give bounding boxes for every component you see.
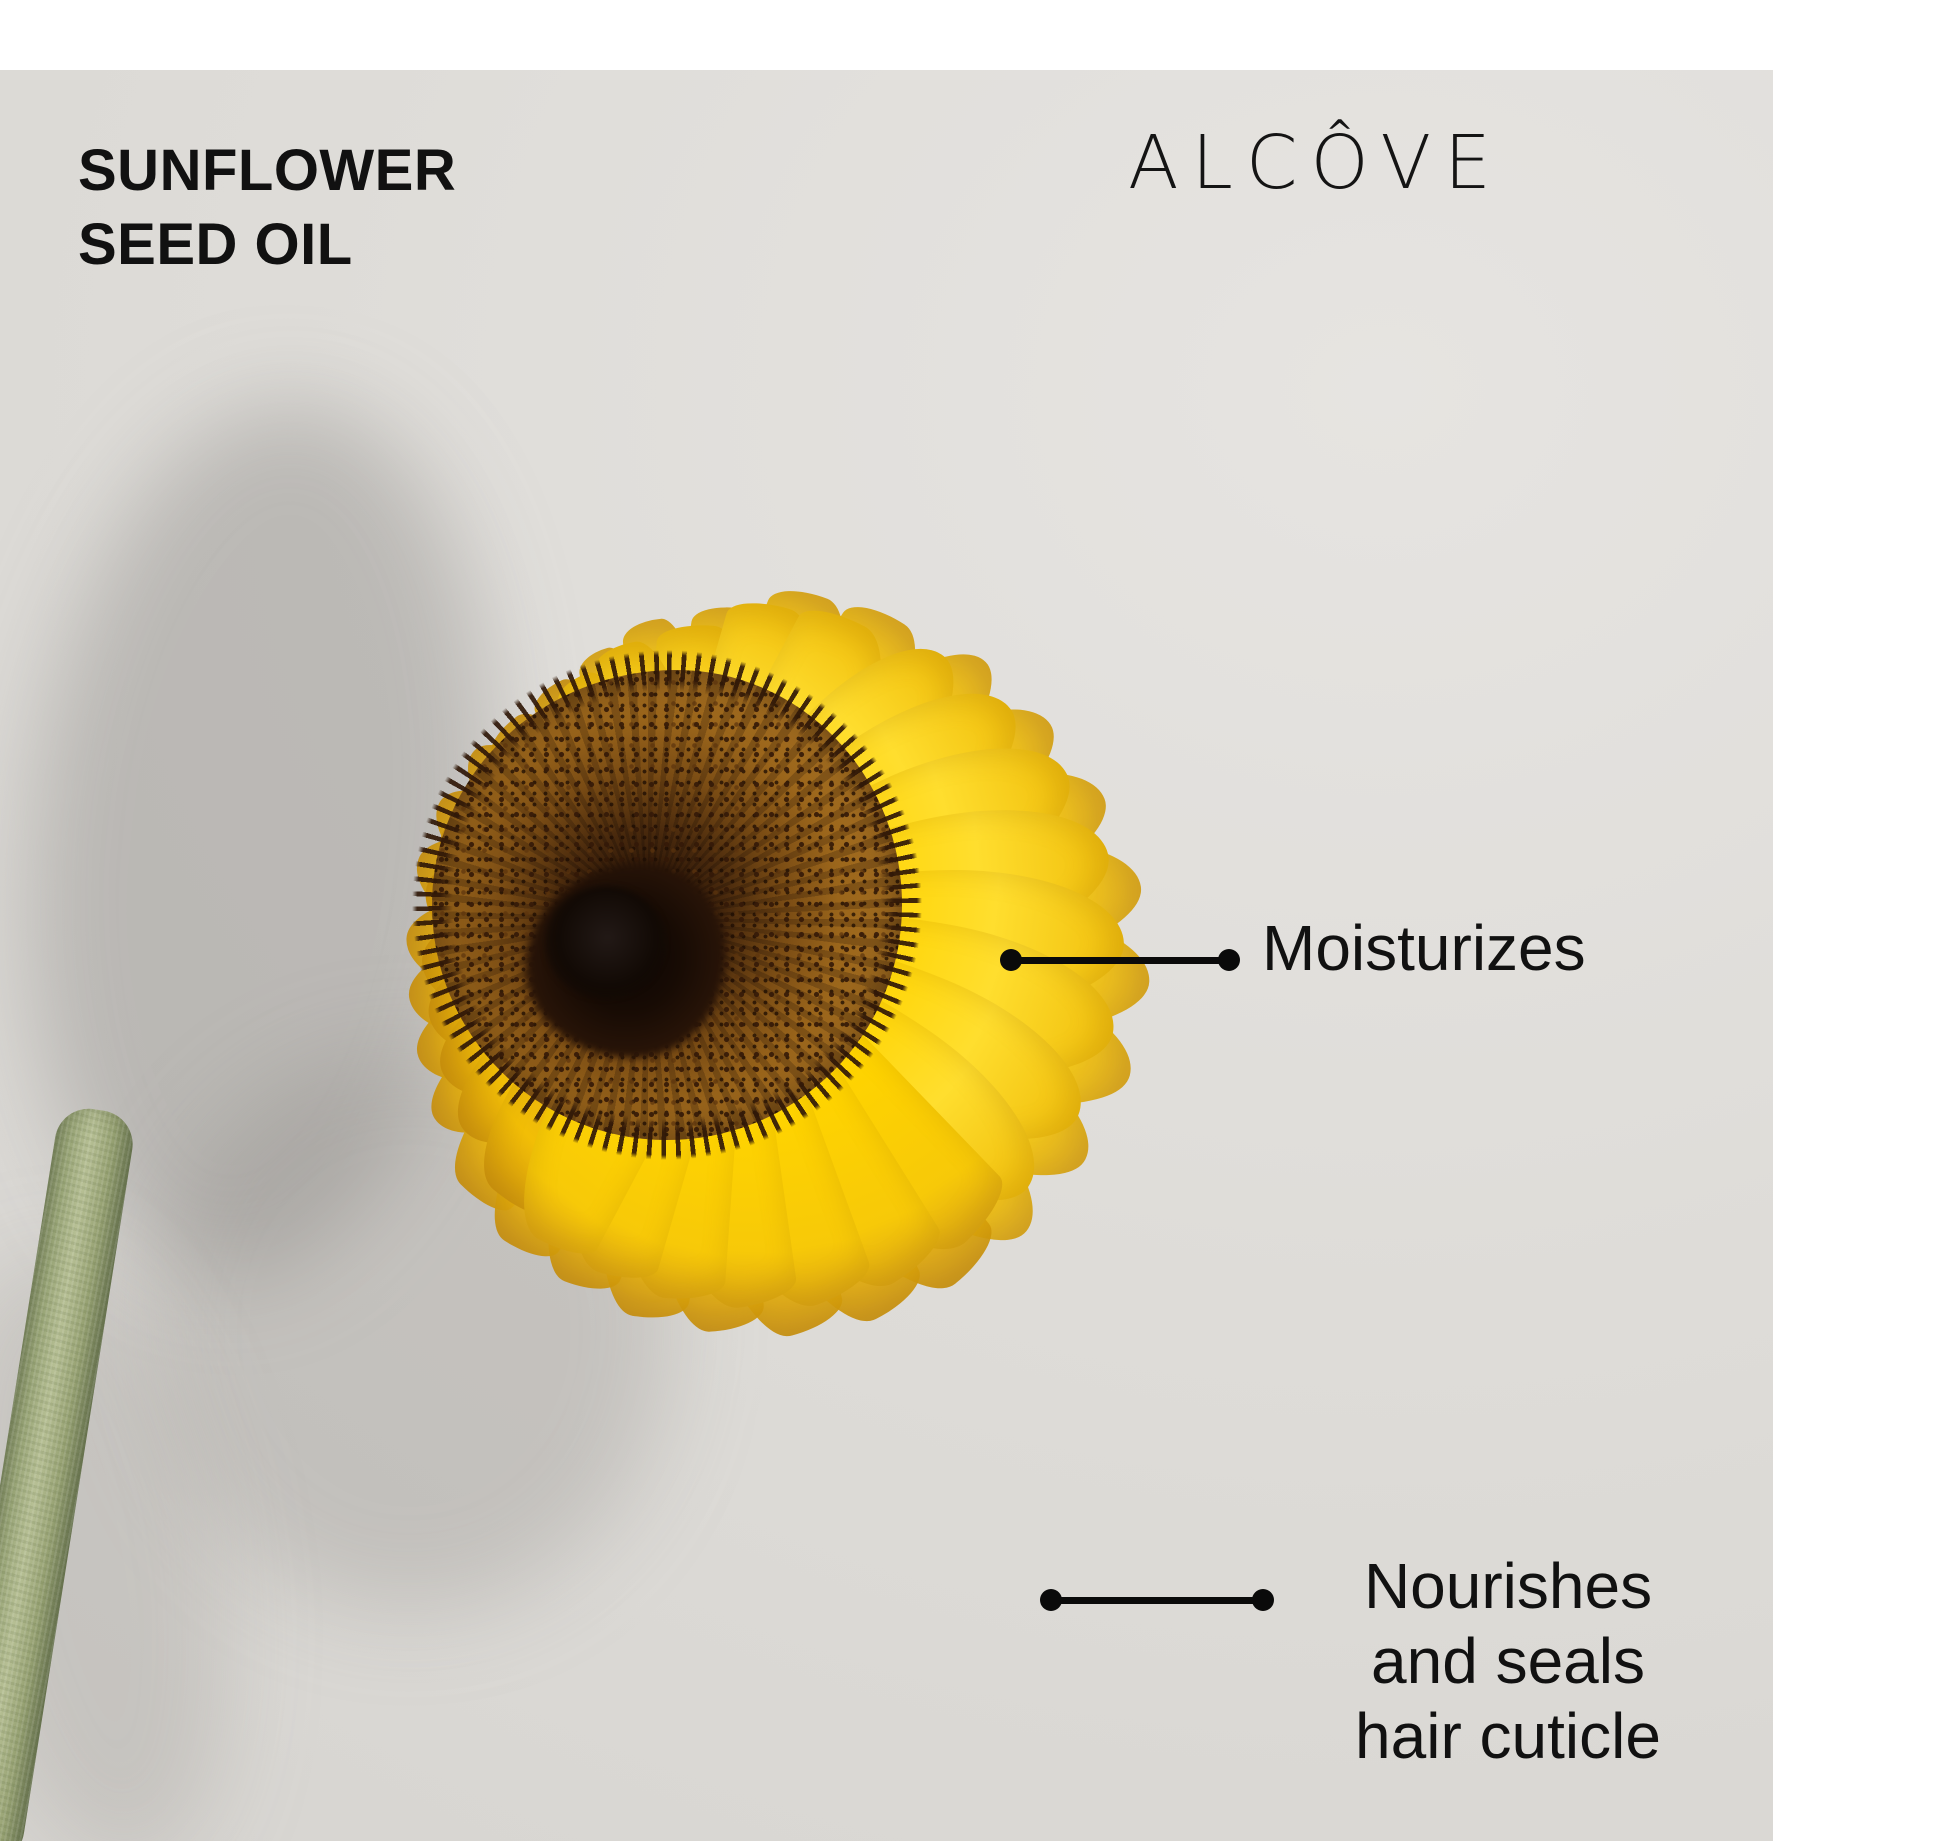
leader-bar (1010, 957, 1230, 964)
leader-dot-end-icon (1252, 1589, 1274, 1611)
leader-dot-end-icon (1218, 949, 1240, 971)
callout-label-nourishes: Nourishes and seals hair cuticle (1298, 1549, 1718, 1774)
page-title: SUNFLOWER SEED OIL (78, 134, 456, 282)
leader-bar (1050, 1597, 1264, 1604)
sunflower-disc (432, 670, 902, 1140)
sunflower-photo: Moisturizes Nourishes and seals hair cut… (0, 70, 1773, 1841)
callout-label-moisturizes: Moisturizes (1262, 911, 1586, 986)
leader-line-nourishes (1040, 1589, 1274, 1611)
brand-logo: ALCÔVE (1128, 126, 1504, 200)
disc-center-core (545, 886, 665, 998)
poster-canvas: Moisturizes Nourishes and seals hair cut… (0, 0, 1946, 1841)
leader-line-moisturizes (1000, 949, 1240, 971)
